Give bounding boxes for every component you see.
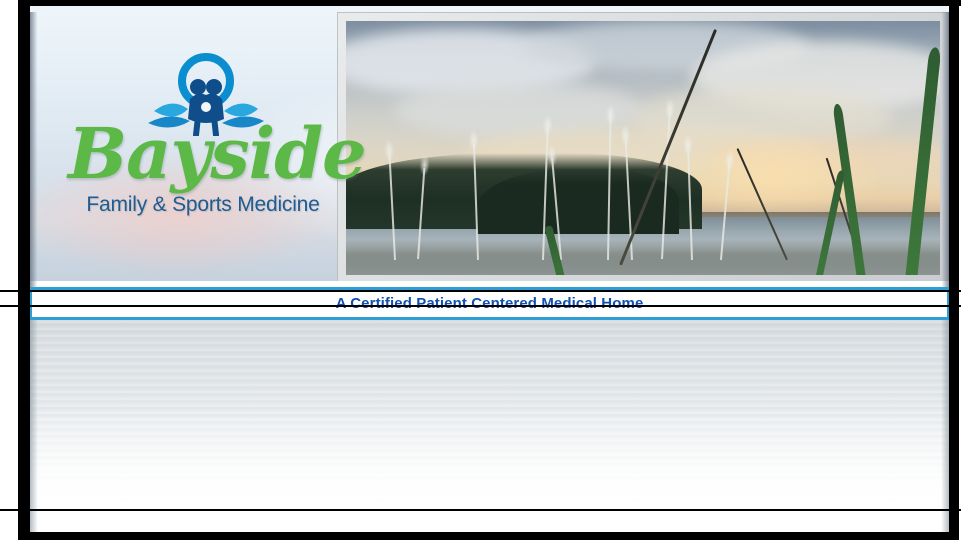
logo-subtitle: Family & Sports Medicine bbox=[68, 193, 338, 217]
content-left-shadow bbox=[30, 320, 38, 532]
content-right-shadow bbox=[941, 320, 949, 532]
hero-photo-frame bbox=[337, 12, 949, 281]
tagline-text: A Certified Patient Centered Medical Hom… bbox=[336, 295, 644, 312]
header-right-shadow bbox=[942, 12, 949, 287]
hero-photo bbox=[337, 12, 949, 281]
logo-wordmark: Bayside bbox=[68, 119, 338, 189]
horizontal-rule-top bbox=[0, 290, 961, 292]
header-left-shadow bbox=[30, 12, 37, 287]
page-canvas: Bayside Family & Sports Medicine bbox=[30, 6, 949, 532]
window-bottom-bar bbox=[18, 532, 959, 540]
horizontal-rule-middle bbox=[0, 305, 961, 307]
window-left-bar bbox=[18, 0, 30, 533]
site-header: Bayside Family & Sports Medicine bbox=[30, 6, 949, 281]
outer-left-margin bbox=[0, 0, 18, 540]
main-content-area bbox=[30, 320, 949, 532]
browser-screen: Bayside Family & Sports Medicine bbox=[0, 0, 961, 540]
site-logo[interactable]: Bayside Family & Sports Medicine bbox=[68, 51, 338, 231]
hero-photo-image bbox=[346, 21, 940, 275]
window-right-bar bbox=[949, 0, 959, 533]
horizontal-rule-lower bbox=[0, 509, 961, 511]
